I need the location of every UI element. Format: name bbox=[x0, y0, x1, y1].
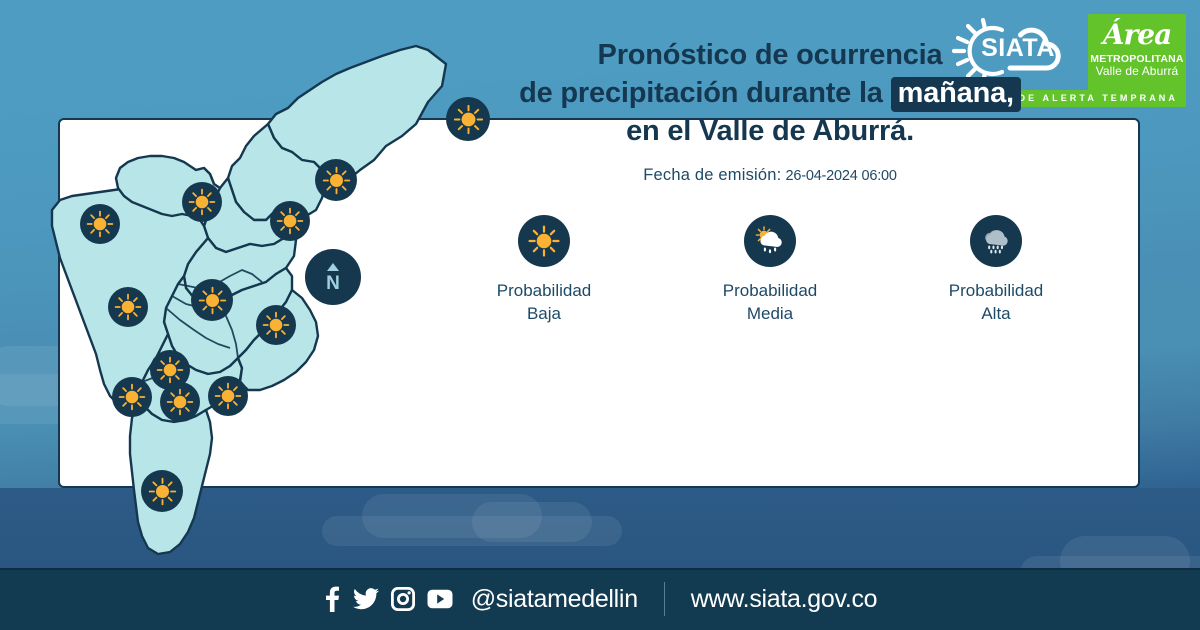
sun-glyph bbox=[527, 224, 561, 258]
sun-glyph bbox=[147, 476, 178, 507]
legend-label-baja: Probabilidad Baja bbox=[497, 279, 592, 325]
map-marker-barbosa-west[interactable] bbox=[80, 204, 120, 244]
youtube-icon[interactable] bbox=[427, 589, 453, 609]
footer-divider bbox=[664, 582, 665, 616]
sun-icon bbox=[182, 182, 222, 222]
map-marker-la-estrella[interactable] bbox=[112, 377, 152, 417]
sun-glyph bbox=[197, 285, 228, 316]
map-marker-envigado[interactable] bbox=[208, 376, 248, 416]
title-line-3: en el Valle de Aburrá. bbox=[470, 112, 1070, 150]
forecast-panel: Pronóstico de ocurrencia de precipitació… bbox=[470, 36, 1070, 325]
infographic-root: SIATA Área METROPOLITANA Valle de Aburrá… bbox=[0, 0, 1200, 630]
map-svg bbox=[30, 20, 450, 590]
area-logo-line2: Valle de Aburrá bbox=[1096, 65, 1179, 78]
legend-alta-line1: Probabilidad bbox=[949, 279, 1044, 302]
legend-item-baja: Probabilidad Baja bbox=[474, 215, 614, 325]
cloud-heavy-rain-glyph bbox=[979, 224, 1013, 258]
svg-text:N: N bbox=[326, 273, 340, 294]
map-marker-bello[interactable] bbox=[191, 279, 233, 321]
legend-label-media: Probabilidad Media bbox=[723, 279, 818, 325]
sun-icon bbox=[208, 376, 248, 416]
sun-glyph bbox=[213, 381, 243, 411]
sun-icon bbox=[191, 279, 233, 321]
sun-glyph bbox=[321, 165, 352, 196]
emission-value: 26-04-2024 06:00 bbox=[785, 168, 896, 184]
legend-item-alta: Probabilidad Alta bbox=[926, 215, 1066, 325]
sun-cloud-rain-glyph bbox=[753, 224, 787, 258]
twitter-icon[interactable] bbox=[353, 588, 379, 610]
map-marker-barbosa[interactable] bbox=[446, 97, 490, 141]
title-line-1: Pronóstico de ocurrencia bbox=[470, 36, 1070, 74]
facebook-icon[interactable] bbox=[323, 586, 341, 612]
sun-glyph bbox=[187, 187, 217, 217]
emission-date: Fecha de emisión:26-04-2024 06:00 bbox=[470, 166, 1070, 185]
legend-media-line1: Probabilidad bbox=[723, 279, 818, 302]
title-line-2: de precipitación durante la mañana, bbox=[470, 74, 1070, 112]
social-handle[interactable]: @siatamedellin bbox=[471, 585, 638, 614]
map-marker-caldas[interactable] bbox=[141, 470, 183, 512]
legend-alta-line2: Alta bbox=[949, 302, 1044, 325]
area-metropolitana-logo: Área METROPOLITANA Valle de Aburrá bbox=[1088, 14, 1186, 96]
legend-baja-line1: Probabilidad bbox=[497, 279, 592, 302]
sun-glyph bbox=[85, 209, 115, 239]
sun-glyph bbox=[113, 292, 143, 322]
footer-bar: @siatamedellin www.siata.gov.co bbox=[0, 568, 1200, 630]
sun-glyph bbox=[452, 103, 485, 136]
valle-de-aburra-map: N bbox=[30, 20, 450, 590]
legend-label-alta: Probabilidad Alta bbox=[949, 279, 1044, 325]
map-marker-sabaneta[interactable] bbox=[160, 382, 200, 422]
cloud-heavy-rain-icon bbox=[970, 215, 1022, 267]
sun-glyph bbox=[165, 387, 195, 417]
sun-icon bbox=[80, 204, 120, 244]
sun-glyph bbox=[155, 355, 185, 385]
sun-icon bbox=[141, 470, 183, 512]
map-marker-san-pedro[interactable] bbox=[182, 182, 222, 222]
instagram-icon[interactable] bbox=[391, 587, 415, 611]
sun-icon bbox=[315, 159, 357, 201]
legend-baja-line2: Baja bbox=[497, 302, 592, 325]
sun-icon bbox=[256, 305, 296, 345]
map-marker-copacabana[interactable] bbox=[270, 201, 310, 241]
sun-cloud-rain-icon bbox=[744, 215, 796, 267]
map-marker-girardota[interactable] bbox=[315, 159, 357, 201]
map-marker-san-jeronimo[interactable] bbox=[108, 287, 148, 327]
social-icons bbox=[323, 586, 453, 612]
page-title: Pronóstico de ocurrencia de precipitació… bbox=[470, 36, 1070, 150]
sun-icon bbox=[446, 97, 490, 141]
sun-glyph bbox=[275, 206, 305, 236]
compass-glyph: N bbox=[315, 259, 351, 295]
sun-icon bbox=[160, 382, 200, 422]
title-highlight-manana: mañana, bbox=[891, 77, 1021, 112]
sun-glyph bbox=[261, 310, 291, 340]
probability-legend: Probabilidad Baja bbox=[470, 215, 1070, 325]
area-logo-script: Área bbox=[1103, 17, 1171, 53]
legend-media-line2: Media bbox=[723, 302, 818, 325]
sun-icon bbox=[270, 201, 310, 241]
emission-label: Fecha de emisión: bbox=[643, 166, 781, 184]
map-marker-medellin[interactable] bbox=[256, 305, 296, 345]
sun-icon bbox=[108, 287, 148, 327]
compass-north-icon: N bbox=[305, 249, 361, 305]
sun-glyph bbox=[117, 382, 147, 412]
sun-icon bbox=[112, 377, 152, 417]
footer-website[interactable]: www.siata.gov.co bbox=[691, 585, 877, 614]
title-line-2-pre: de precipitación durante la bbox=[519, 77, 883, 109]
sun-icon bbox=[518, 215, 570, 267]
legend-item-media: Probabilidad Media bbox=[700, 215, 840, 325]
